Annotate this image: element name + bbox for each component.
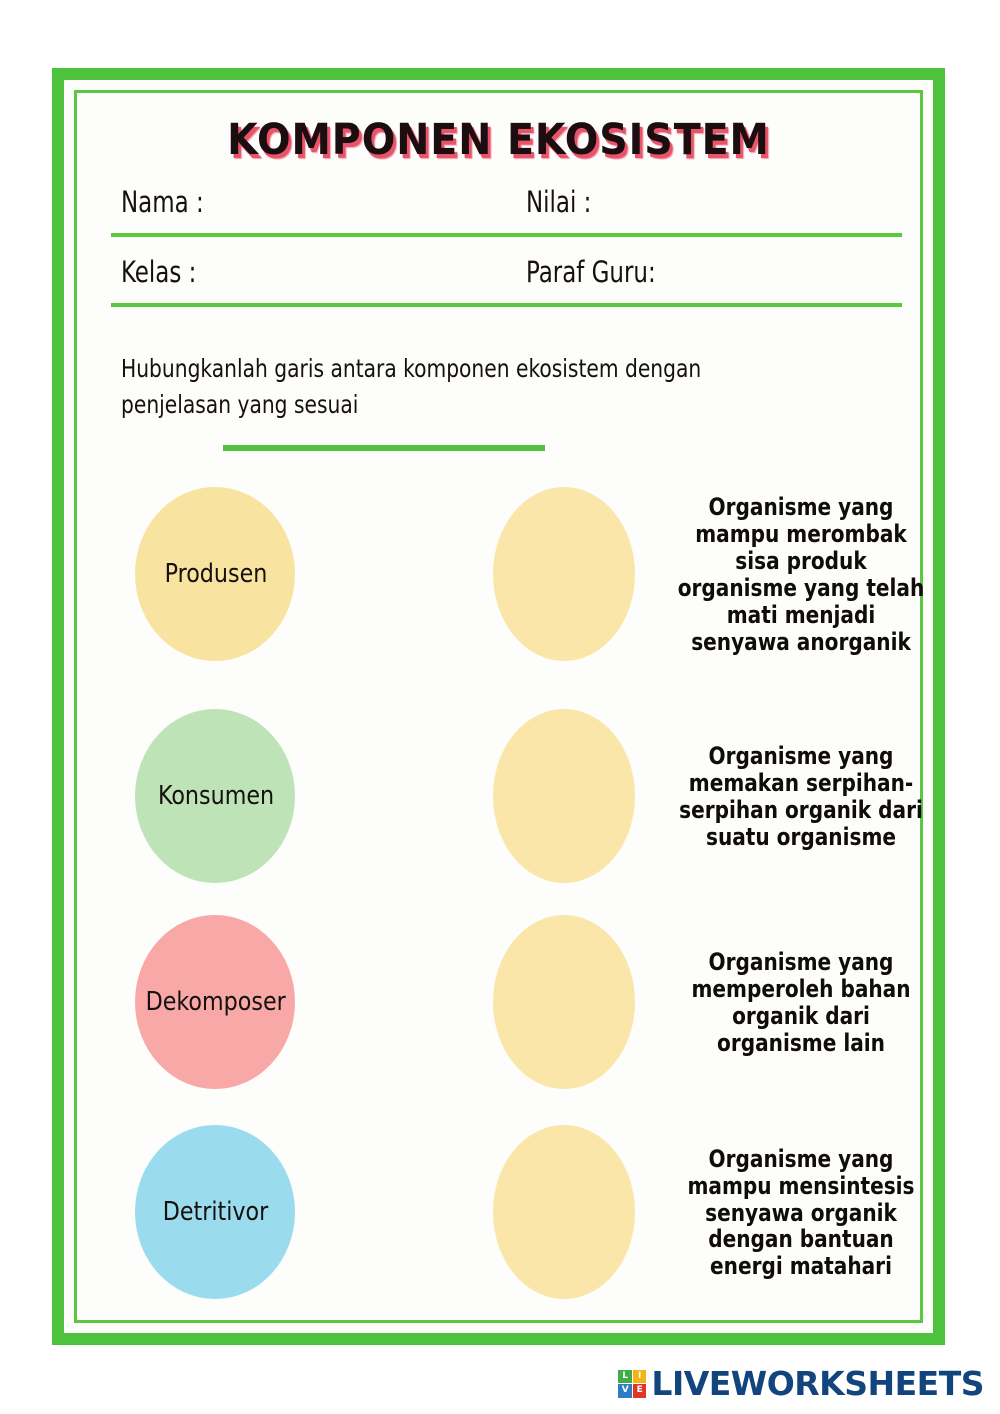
liveworksheets-logo-icon: L I V E	[618, 1370, 646, 1398]
logo-square-e: E	[633, 1384, 647, 1398]
term-circle-konsumen[interactable]: Konsumen	[135, 709, 295, 883]
answer-circle-4[interactable]	[493, 1125, 635, 1299]
term-label: Produsen	[163, 559, 268, 589]
worksheet-content: KOMPONEN EKOSISTEM Nama : Nilai : Kelas …	[77, 93, 920, 1320]
identity-row-name: Nama : Nilai :	[111, 185, 902, 241]
matching-row: Detritivor Organisme yang mampu mensinte…	[77, 1113, 920, 1333]
term-label: Detritivor	[161, 1197, 268, 1227]
description-text-3: Organisme yang memperoleh bahan organik …	[676, 903, 925, 1103]
matching-row: Produsen Organisme yang mampu merombak s…	[77, 475, 920, 695]
score-label: Nilai :	[526, 185, 591, 219]
identity-divider-1	[111, 233, 902, 237]
description-text-2: Organisme yang memakan serpihan-serpihan…	[676, 697, 925, 897]
term-label: Konsumen	[156, 781, 274, 811]
worksheet-inner-frame: KOMPONEN EKOSISTEM Nama : Nilai : Kelas …	[74, 90, 923, 1323]
term-label: Dekomposer	[144, 987, 286, 1017]
logo-square-v: V	[618, 1384, 632, 1398]
description-text-4: Organisme yang mampu mensintesis senyawa…	[676, 1113, 925, 1313]
term-circle-dekomposer[interactable]: Dekomposer	[135, 915, 295, 1089]
name-label: Nama :	[121, 185, 204, 219]
answer-circle-2[interactable]	[493, 709, 635, 883]
term-circle-produsen[interactable]: Produsen	[135, 487, 295, 661]
description-text-1: Organisme yang mampu merombak sisa produ…	[676, 475, 925, 675]
page-title: KOMPONEN EKOSISTEM	[111, 115, 887, 165]
answer-circle-1[interactable]	[493, 487, 635, 661]
matching-exercise: Produsen Organisme yang mampu merombak s…	[77, 475, 920, 1320]
identity-row-class: Kelas : Paraf Guru:	[111, 255, 902, 311]
signature-label: Paraf Guru:	[526, 255, 656, 289]
instruction-underline	[223, 445, 545, 451]
logo-square-i: I	[633, 1370, 647, 1384]
instruction-text: Hubungkanlah garis antara komponen ekosi…	[121, 351, 768, 424]
class-label: Kelas :	[121, 255, 196, 289]
identity-divider-2	[111, 303, 902, 307]
liveworksheets-wordmark: LIVEWORKSHEETS	[651, 1367, 984, 1400]
worksheet-frame: KOMPONEN EKOSISTEM Nama : Nilai : Kelas …	[52, 68, 945, 1345]
answer-circle-3[interactable]	[493, 915, 635, 1089]
matching-row: Dekomposer Organisme yang memperoleh bah…	[77, 903, 920, 1123]
term-circle-detritivor[interactable]: Detritivor	[135, 1125, 295, 1299]
logo-square-l: L	[618, 1370, 632, 1384]
matching-row: Konsumen Organisme yang memakan serpihan…	[77, 697, 920, 917]
liveworksheets-footer[interactable]: L I V E LIVEWORKSHEETS	[618, 1367, 984, 1400]
